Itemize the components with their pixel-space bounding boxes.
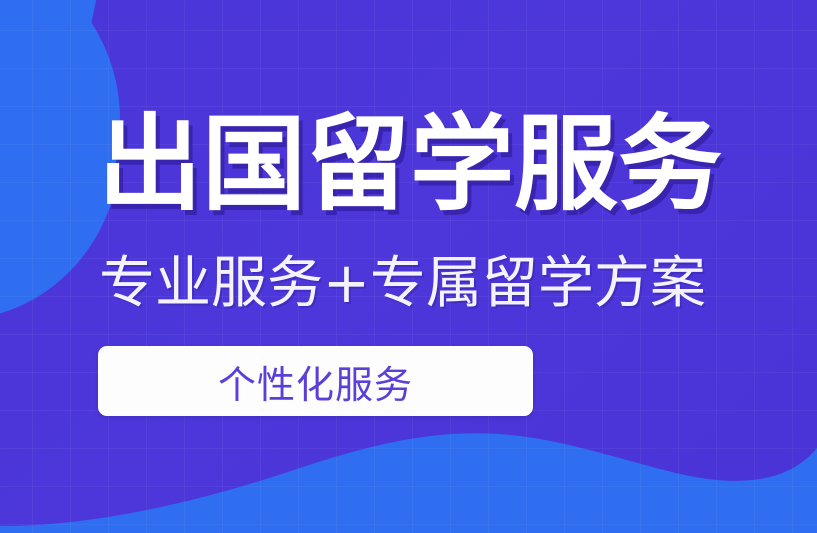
personalized-service-button-label: 个性化服务 xyxy=(218,354,413,409)
page-title: 出国留学服务 xyxy=(98,108,722,220)
personalized-service-button[interactable]: 个性化服务 xyxy=(98,346,533,416)
banner-subtitle: 专业服务+专属留学方案 xyxy=(99,253,706,315)
study-abroad-promo-banner: 出国留学服务 专业服务+专属留学方案 个性化服务 xyxy=(0,0,817,533)
banner-content: 出国留学服务 专业服务+专属留学方案 个性化服务 xyxy=(0,0,817,533)
